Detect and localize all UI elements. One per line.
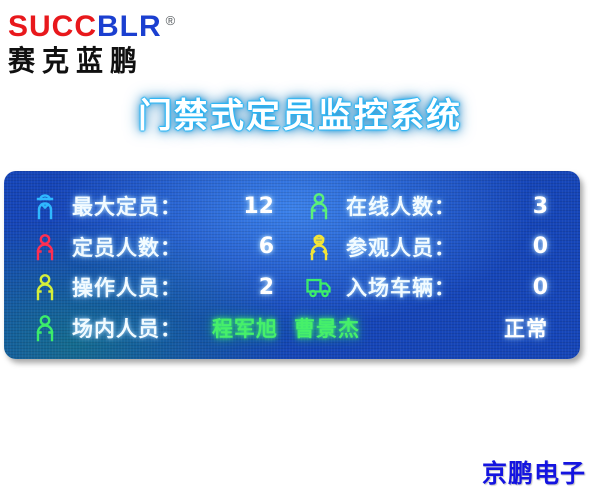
led-row: 定员人数： 6 参观人员： 0 <box>18 228 566 266</box>
person-hardhat-icon <box>30 191 60 221</box>
led-content-grid: 最大定员： 12 在线人数： 3 <box>4 171 580 359</box>
led-value: 0 <box>533 234 548 259</box>
led-row: 最大定员： 12 在线人数： 3 <box>18 187 566 225</box>
led-field-max-capacity: 最大定员： 12 <box>18 187 292 225</box>
logo-blr-text: BLR <box>97 10 162 43</box>
person-icon <box>304 191 334 221</box>
truck-icon <box>304 272 334 302</box>
led-field-online-count: 在线人数： 3 <box>292 187 566 225</box>
led-label: 定员人数： <box>72 232 182 262</box>
registered-trademark-icon: ® <box>166 13 177 28</box>
led-label: 入场车辆： <box>346 272 456 302</box>
list-item: 曹景杰 <box>294 313 360 343</box>
person-cap-icon <box>304 232 334 262</box>
person-icon <box>30 313 60 343</box>
led-field-onsite-personnel: 场内人员： 程军旭 曹景杰 正常 <box>18 309 566 347</box>
list-item: 程军旭 <box>212 313 278 343</box>
led-field-operator-count: 操作人员： 2 <box>18 268 292 306</box>
led-label: 场内人员： <box>72 313 182 343</box>
logo-chinese-text: 赛克蓝鹏 <box>8 45 248 79</box>
led-field-vehicle-count: 入场车辆： 0 <box>292 268 566 306</box>
logo-succ-text: SUCC <box>8 10 97 43</box>
person-icon <box>30 232 60 262</box>
led-value: 3 <box>533 194 548 219</box>
footer-company-name: 京鹏电子 <box>482 454 586 490</box>
led-label: 在线人数： <box>346 191 456 221</box>
led-row: 操作人员： 2 入场车辆： 0 <box>18 268 566 306</box>
led-display-panel: 最大定员： 12 在线人数： 3 <box>4 171 580 359</box>
led-value: 0 <box>533 275 548 300</box>
led-field-visitor-count: 参观人员： 0 <box>292 228 566 266</box>
led-value: 2 <box>259 275 274 300</box>
logo-latin-text: SUCCBLR® <box>8 4 248 44</box>
led-label: 操作人员： <box>72 272 182 302</box>
company-logo: SUCCBLR® 赛克蓝鹏 <box>8 4 248 76</box>
led-field-assigned-count: 定员人数： 6 <box>18 228 292 266</box>
page-title: 门禁式定员监控系统 <box>0 88 600 137</box>
led-value: 6 <box>259 234 274 259</box>
led-value: 12 <box>243 194 274 219</box>
person-icon <box>30 272 60 302</box>
led-label: 最大定员： <box>72 191 182 221</box>
led-label: 参观人员： <box>346 232 456 262</box>
onsite-names-list: 程军旭 曹景杰 <box>212 313 360 343</box>
status-badge: 正常 <box>504 313 548 343</box>
